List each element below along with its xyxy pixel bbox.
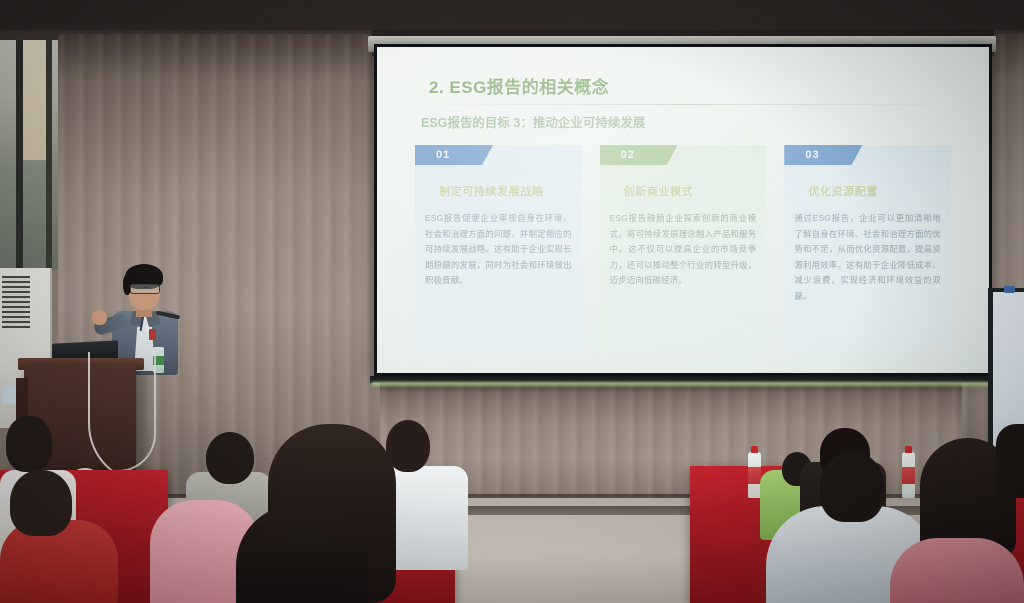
water-bottle-2-label [902, 467, 915, 484]
window-frame [16, 40, 23, 270]
projector-screen-frame: 2. ESG报告的相关概念 ESG报告的目标 3：推动企业可持续发展 01 制定… [374, 44, 992, 376]
audience-head [206, 432, 254, 484]
slide-subtitle: ESG报告的目标 3：推动企业可持续发展 [421, 112, 963, 131]
audience-head [820, 452, 884, 522]
microphone-cable-loop [118, 352, 156, 472]
lecture-hall-photo: 2. ESG报告的相关概念 ESG报告的目标 3：推动企业可持续发展 01 制定… [0, 0, 1024, 603]
audience-top [890, 538, 1024, 603]
glasses-icon [130, 284, 160, 294]
slide-card-group: 01 制定可持续发展战略 ESG报告促使企业审视自身在环境、社会和治理方面的问题… [403, 145, 963, 350]
presenter-badge [149, 329, 156, 340]
card-body-02: ESG报告鼓励企业探索创新的商业模式，将可持续发展理念融入产品和服务中。这不仅可… [610, 211, 757, 289]
card-heading-02: 创新商业模式 [624, 183, 757, 199]
whiteboard-clip-icon [1004, 286, 1015, 293]
title-divider [413, 104, 953, 105]
water-bottle-1-label [748, 467, 761, 484]
card-number-badge-01: 01 [415, 145, 493, 165]
audience-head [996, 424, 1024, 498]
card-number-badge-03: 03 [784, 145, 862, 165]
presentation-slide: 2. ESG报告的相关概念 ESG报告的目标 3：推动企业可持续发展 01 制定… [377, 47, 989, 373]
card-body-01: ESG报告促使企业审视自身在环境、社会和治理方面的问题，并制定相应的可持续发展战… [425, 211, 572, 289]
air-conditioner-vents [2, 276, 30, 328]
audience-head [6, 416, 52, 472]
window-frame-inner [46, 40, 52, 270]
projector-screen-glow [372, 382, 994, 387]
projector-screen: 2. ESG报告的相关概念 ESG报告的目标 3：推动企业可持续发展 01 制定… [377, 47, 989, 373]
slide-title: 2. ESG报告的相关概念 [429, 73, 963, 98]
slide-card-02: 02 创新商业模式 ESG报告鼓励企业探索创新的商业模式，将可持续发展理念融入产… [600, 145, 767, 350]
slide-card-03: 03 优化资源配置 通过ESG报告，企业可以更加清晰地了解自身在环境、社会和治理… [784, 145, 951, 350]
window-daylight [23, 40, 46, 160]
slide-card-01: 01 制定可持续发展战略 ESG报告促使企业审视自身在环境、社会和治理方面的问题… [415, 145, 582, 350]
card-number-badge-02: 02 [600, 145, 678, 165]
presenter-hand [92, 310, 107, 325]
card-body-03: 通过ESG报告，企业可以更加清晰地了解自身在环境、社会和治理方面的优势和不足，从… [794, 211, 941, 304]
card-heading-03: 优化资源配置 [808, 183, 941, 199]
card-heading-01: 制定可持续发展战略 [439, 183, 572, 199]
audience-head [10, 470, 72, 536]
